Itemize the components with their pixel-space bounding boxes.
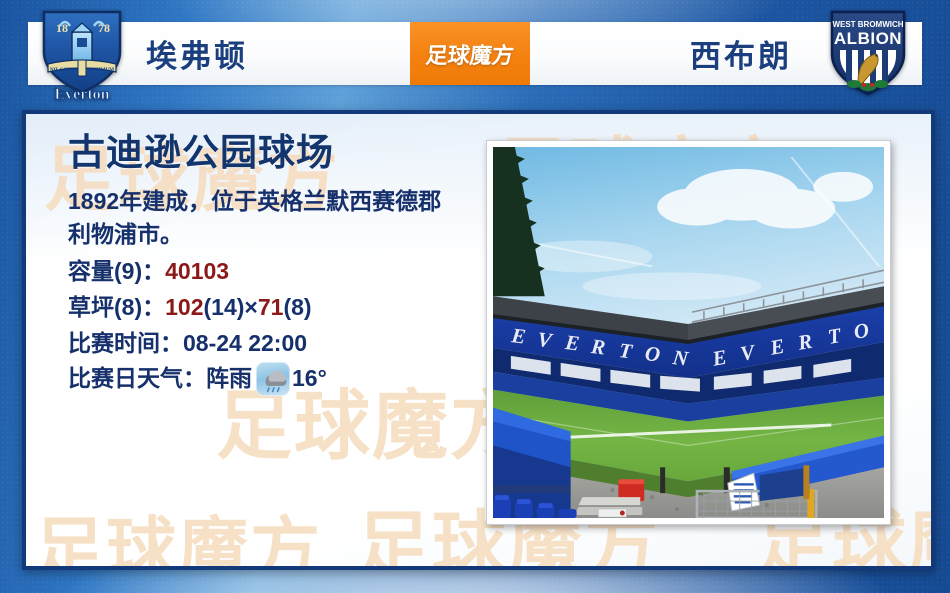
west-bromwich-albion-crest-icon: WEST BROMWICH ALBION [818,4,918,102]
pitch-row: 草坪(8)： 102 (14) × 71 (8) [68,290,468,326]
stadium-info-text: 古迪逊公园球场 1892年建成，位于英格兰默西赛德郡利物浦市。 容量(9)： 4… [68,134,468,397]
weather-temperature: 16° [292,361,327,397]
svg-text:O: O [644,341,662,367]
pitch-width-value: 71 [258,290,284,326]
match-time-row: 比赛时间： 08-24 22:00 [68,326,468,362]
weather-condition: 阵雨 [206,361,252,397]
pitch-length-value: 102 [165,290,203,326]
match-time-label: 比赛时间： [68,326,183,362]
shower-rain-icon [256,362,290,396]
capacity-value: 40103 [165,254,229,290]
home-team-name: 埃弗顿 [146,22,248,85]
svg-text:R: R [589,334,607,360]
svg-text:E: E [563,330,581,356]
pitch-times-symbol: × [244,290,257,326]
site-logo-text: 足球魔方 [424,38,515,70]
svg-text:Everton: Everton [54,86,109,102]
stadium-title: 古迪逊公园球场 [68,134,468,171]
match-header: 18 78 NIL SATIS NISI OPTIMUM Everton 埃弗顿… [0,0,950,105]
capacity-label: 容量(9)： [68,254,165,290]
pitch-width-rating: (8) [283,290,311,326]
watermark: 足球魔方 [34,494,322,570]
pitch-length-rating: (14) [204,290,245,326]
svg-text:WEST BROMWICH: WEST BROMWICH [832,20,903,29]
capacity-row: 容量(9)： 40103 [68,254,468,290]
match-time-value: 08-24 22:00 [183,326,307,362]
stadium-photo: E V E R T O N E V E R T O [493,147,884,518]
stadium-info-panel: 足球魔方 足球魔方 足球魔方 足球魔方 足球魔方 足球魔方 古迪逊公园球场 18… [22,110,935,570]
weather-label: 比赛日天气： [68,361,206,397]
site-logo-badge[interactable]: 足球魔方 [410,22,530,85]
pitch-label: 草坪(8)： [68,290,165,326]
stadium-description: 1892年建成，位于英格兰默西赛德郡利物浦市。 [68,185,460,250]
stadium-photo-frame: E V E R T O N E V E R T O [486,140,891,525]
away-team-name: 西布朗 [690,22,792,85]
weather-row: 比赛日天气： 阵雨 16° [68,361,468,397]
svg-text:ALBION: ALBION [834,29,902,48]
svg-text:E: E [509,323,527,349]
everton-crest-icon: 18 78 NIL SATIS NISI OPTIMUM Everton [32,4,132,102]
